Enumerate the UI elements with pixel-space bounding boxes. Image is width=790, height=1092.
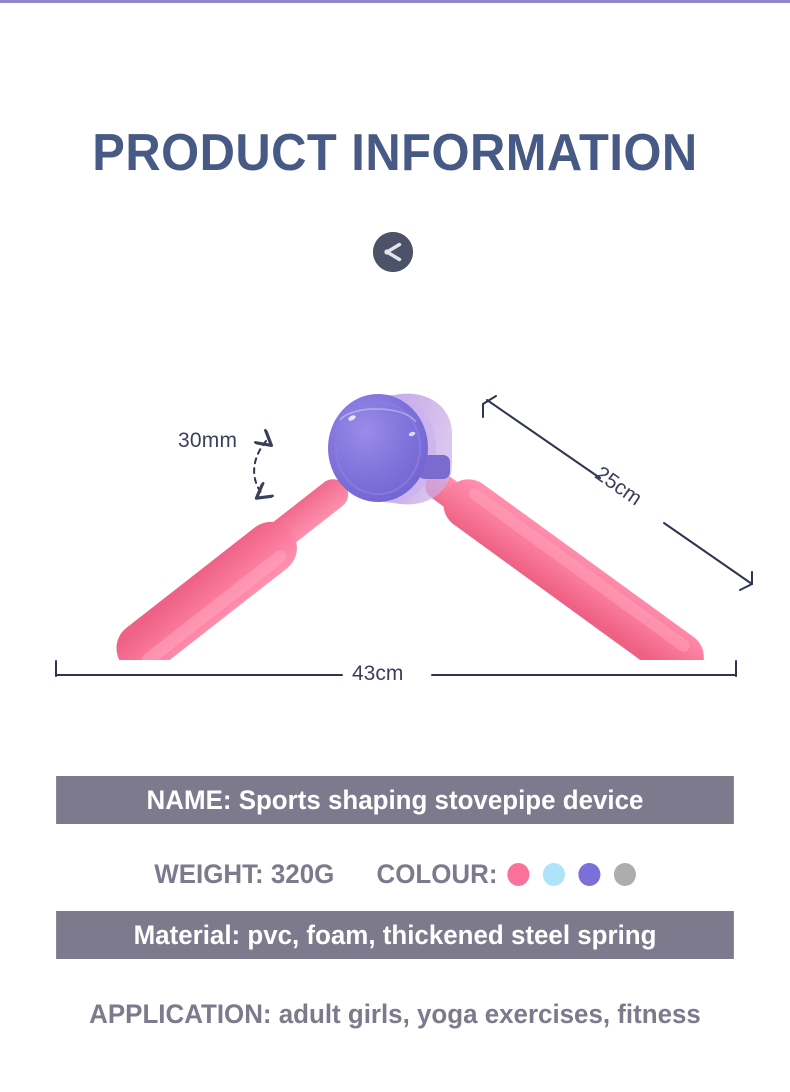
info-application-text: APPLICATION: adult girls, yoga exercises…: [89, 999, 701, 1030]
colour-swatch-pink[interactable]: [507, 863, 529, 886]
info-bar-name: NAME: Sports shaping stovepipe device: [56, 776, 734, 824]
dimension-label-total-width: 43cm: [352, 662, 403, 686]
colour-swatch-light-blue[interactable]: [543, 863, 565, 886]
dimension-label-diameter: 30mm: [178, 429, 237, 453]
colour-swatch-purple[interactable]: [578, 863, 600, 886]
info-material-text: Material: pvc, foam, thickened steel spr…: [134, 920, 657, 951]
info-name-text: NAME: Sports shaping stovepipe device: [147, 785, 644, 816]
top-accent-strip: [0, 0, 790, 3]
info-weight-text: WEIGHT: 320G: [154, 859, 334, 890]
colour-swatch-list: [507, 863, 636, 886]
product-information-page: PRODUCT INFORMATION: [0, 0, 790, 1092]
info-row-weight-colour: WEIGHT: 320G COLOUR:: [56, 852, 734, 896]
product-illustration: [0, 360, 790, 660]
info-colour-label: COLOUR:: [377, 859, 498, 890]
page-title: PRODUCT INFORMATION: [24, 122, 767, 184]
colour-swatch-gray[interactable]: [614, 863, 636, 886]
chevron-left-icon[interactable]: [373, 232, 413, 272]
info-bar-material: Material: pvc, foam, thickened steel spr…: [56, 911, 734, 959]
info-row-application: APPLICATION: adult girls, yoga exercises…: [56, 992, 734, 1036]
